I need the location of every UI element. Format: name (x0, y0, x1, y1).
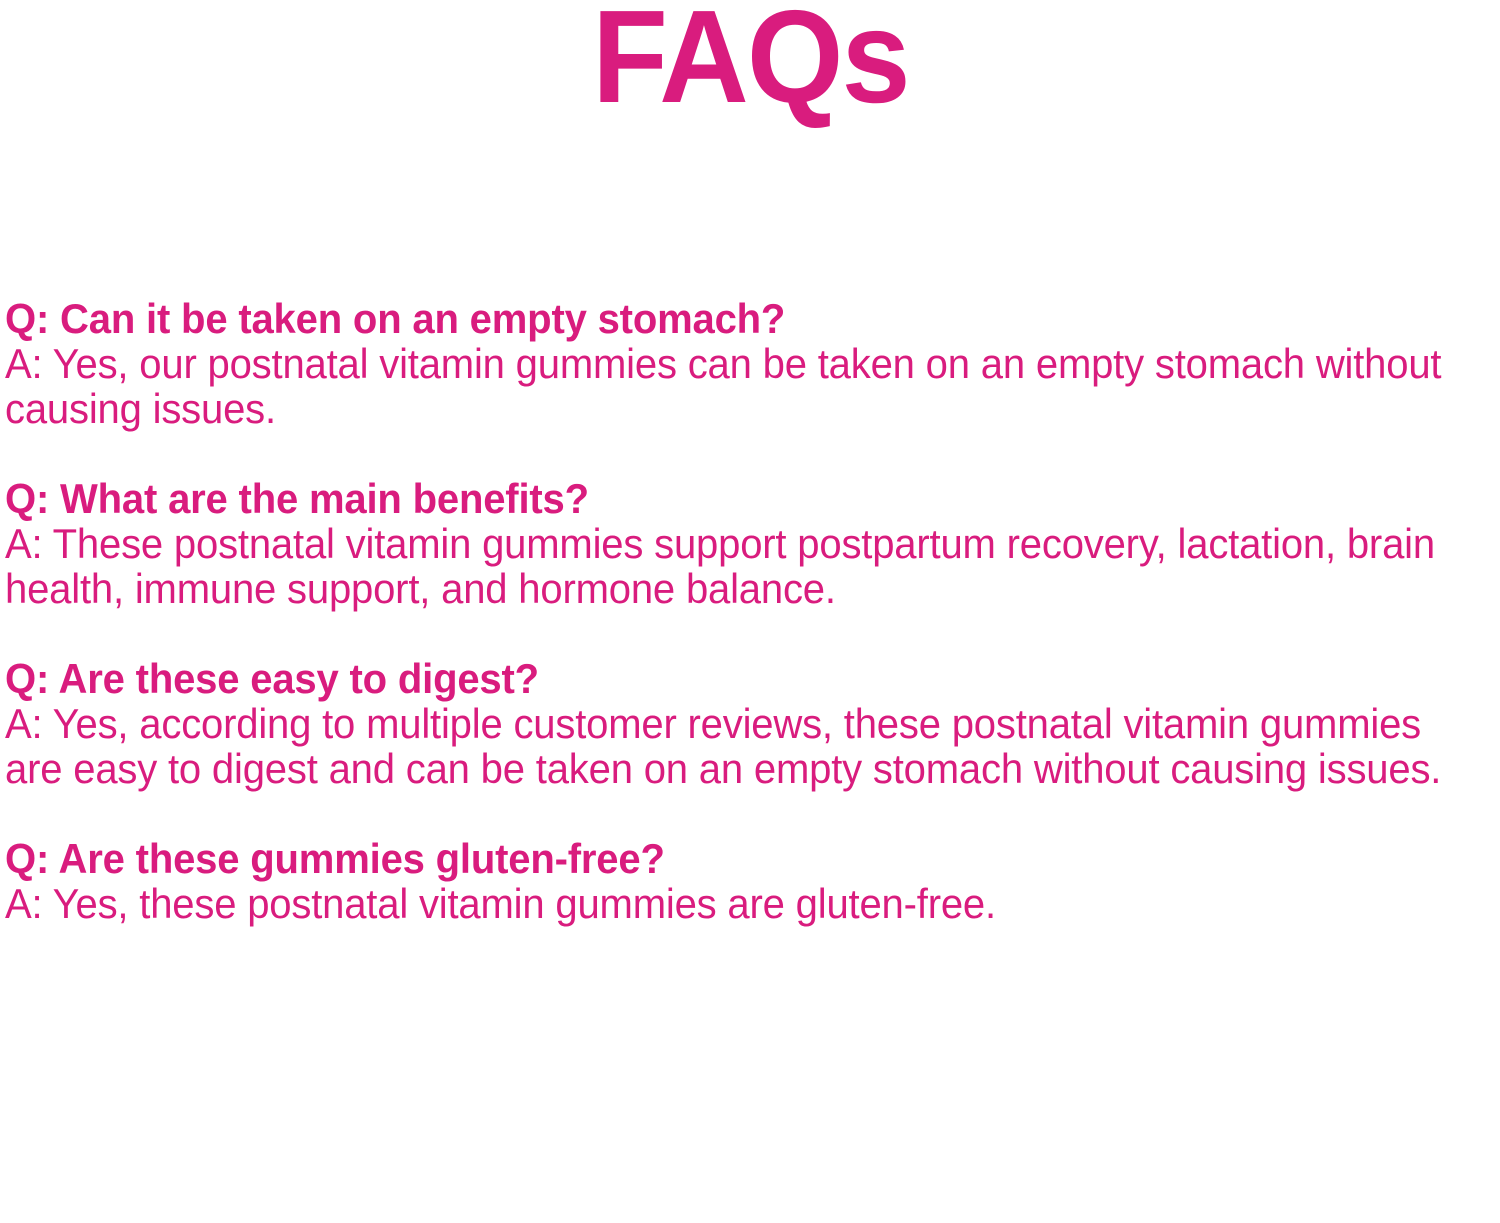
faq-item: Q: Are these easy to digest? A: Yes, acc… (5, 656, 1500, 791)
faq-list: Q: Can it be taken on an empty stomach? … (5, 296, 1500, 926)
faq-answer: A: Yes, these postnatal vitamin gummies … (5, 881, 1448, 926)
faq-answer: A: Yes, our postnatal vitamin gummies ca… (5, 341, 1448, 431)
faq-question: Q: Are these gummies gluten-free? (5, 836, 1448, 881)
faq-answer: A: Yes, according to multiple customer r… (5, 701, 1448, 791)
faq-question: Q: Are these easy to digest? (5, 656, 1448, 701)
faq-answer: A: These postnatal vitamin gummies suppo… (5, 521, 1448, 611)
page-title: FAQs (592, 0, 909, 121)
faq-item: Q: What are the main benefits? A: These … (5, 476, 1500, 611)
page-title-container: FAQs (0, 0, 1500, 132)
faq-page: FAQs Q: Can it be taken on an empty stom… (0, 0, 1500, 1223)
faq-item: Q: Are these gummies gluten-free? A: Yes… (5, 836, 1500, 926)
faq-item: Q: Can it be taken on an empty stomach? … (5, 296, 1500, 431)
faq-question: Q: Can it be taken on an empty stomach? (5, 296, 1448, 341)
faq-question: Q: What are the main benefits? (5, 476, 1448, 521)
